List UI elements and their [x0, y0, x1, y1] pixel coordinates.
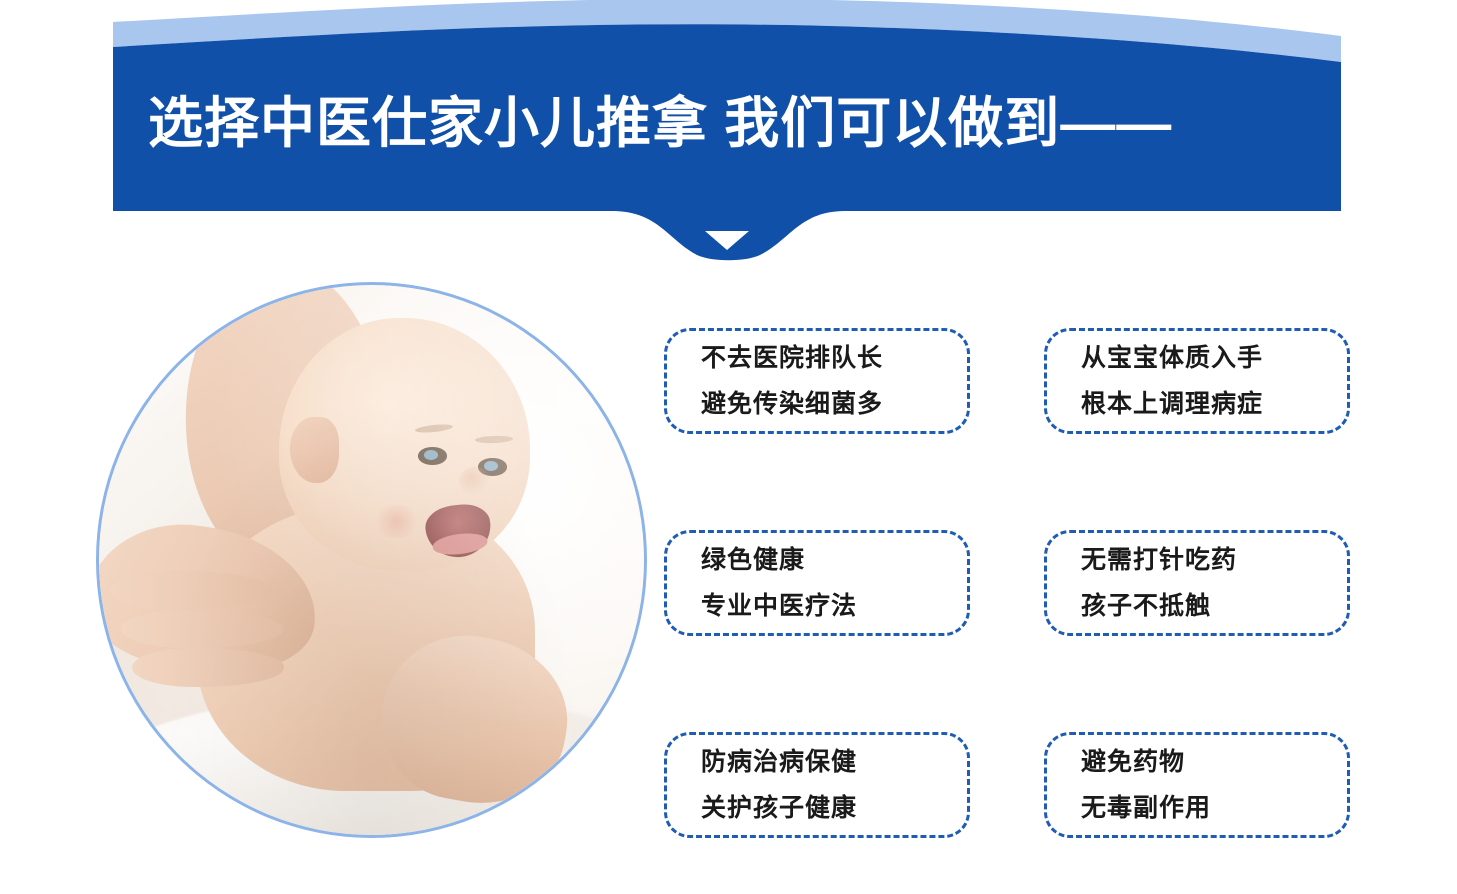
feature-line-1: 不去医院排队长: [701, 335, 967, 381]
feature-box-green-health[interactable]: 绿色健康 专业中医疗法: [664, 530, 970, 636]
baby-massage-photo: [96, 282, 647, 838]
feature-box-prevent-treat[interactable]: 防病治病保健 关护孩子健康: [664, 732, 970, 838]
feature-line-1: 从宝宝体质入手: [1081, 335, 1347, 381]
feature-box-avoid-medicine[interactable]: 避免药物 无毒副作用: [1044, 732, 1350, 838]
header-banner: 选择中医仕家小儿推拿 我们可以做到——: [0, 0, 1457, 275]
photo-clip: [99, 285, 644, 835]
feature-box-no-hospital-queue[interactable]: 不去医院排队长 避免传染细菌多: [664, 328, 970, 434]
page-title: 选择中医仕家小儿推拿 我们可以做到——: [148, 84, 1328, 162]
feature-line-1: 无需打针吃药: [1081, 537, 1347, 583]
feature-box-baby-constitution[interactable]: 从宝宝体质入手 根本上调理病症: [1044, 328, 1350, 434]
feature-line-2: 根本上调理病症: [1081, 381, 1347, 427]
feature-box-no-injection[interactable]: 无需打针吃药 孩子不抵触: [1044, 530, 1350, 636]
feature-line-2: 避免传染细菌多: [701, 381, 967, 427]
feature-line-1: 避免药物: [1081, 739, 1347, 785]
feature-line-2: 专业中医疗法: [701, 583, 967, 629]
feature-line-2: 关护孩子健康: [701, 785, 967, 831]
feature-line-2: 孩子不抵触: [1081, 583, 1347, 629]
feature-line-1: 防病治病保健: [701, 739, 967, 785]
feature-list: 不去医院排队长 避免传染细菌多 从宝宝体质入手 根本上调理病症 绿色健康 专业中…: [664, 328, 1364, 838]
promo-page: 选择中医仕家小儿推拿 我们可以做到——: [0, 0, 1457, 894]
feature-line-1: 绿色健康: [701, 537, 967, 583]
feature-line-2: 无毒副作用: [1081, 785, 1347, 831]
photo-lighting-overlay: [99, 285, 644, 835]
